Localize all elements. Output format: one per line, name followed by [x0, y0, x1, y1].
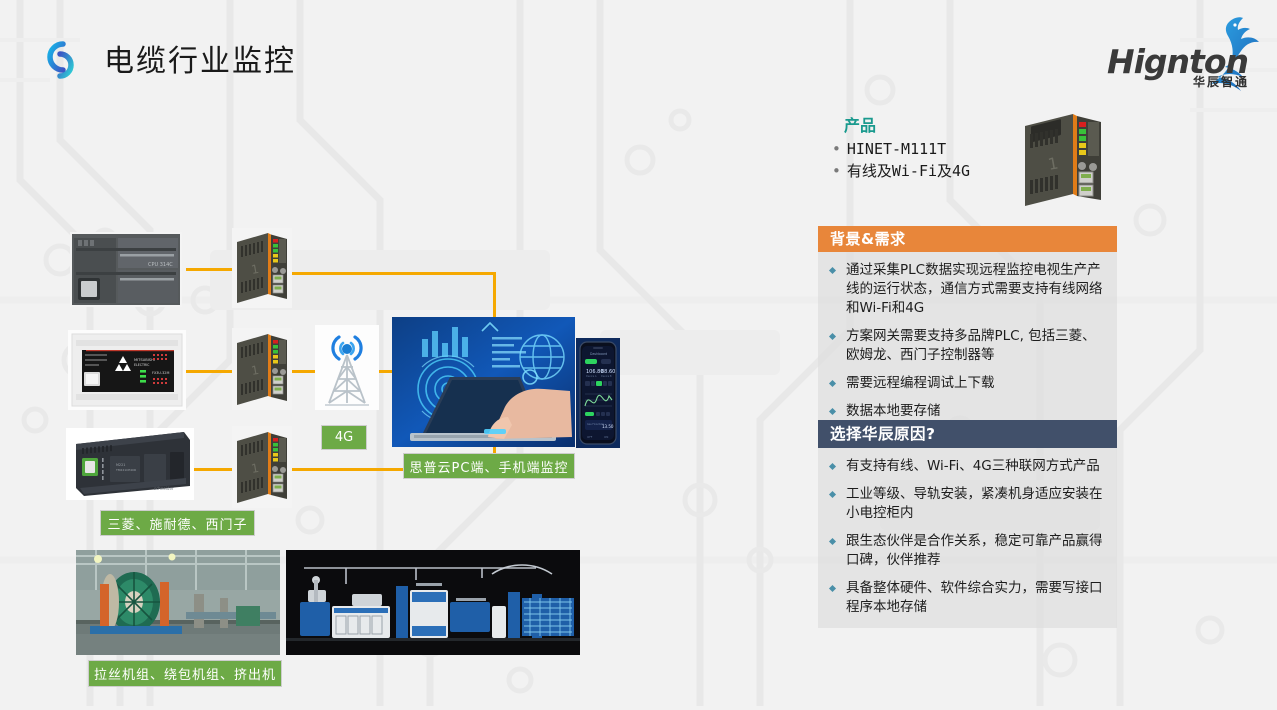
laptop-dashboard-photo: [392, 317, 575, 447]
svg-text:OFF: OFF: [587, 435, 593, 439]
interlocking-circles-icon: [33, 31, 93, 89]
plc-brands-label: 三菱、施耐德、西门子: [100, 510, 255, 536]
svg-text:ELECTRIC: ELECTRIC: [134, 363, 150, 367]
wire-plc1-gw1: [186, 268, 234, 271]
mitsubishi-plc-photo: MITSUBISHI ELECTRIC FX3U-32M: [68, 330, 186, 410]
list-item: 数据本地要存储: [826, 402, 1109, 421]
product-block: 产品 •HINET-M111T •有线及Wi-Fi及4G: [832, 112, 1032, 182]
hinet-gateway-3-photo: 1: [232, 426, 292, 508]
panel-background-title: 背景&需求: [818, 226, 1117, 252]
logo-chinese-name: 华辰智通: [1193, 73, 1249, 90]
company-logo: Hignton 华辰智通: [1107, 14, 1267, 98]
panel-background-body: 通过采集PLC数据实现远程监控电视生产产线的运行状态，通信方式需要支持有线网络和…: [818, 252, 1117, 432]
svg-text:CPU 314C: CPU 314C: [148, 262, 173, 268]
smartphone-dashboard-photo: Dashboard 106.80 88.60 Device A Device B: [576, 338, 620, 448]
list-item: 方案网关需要支持多品牌PLC, 包括三菱、欧姆龙、西门子控制器等: [826, 327, 1109, 365]
4g-tower-icon: [315, 325, 379, 410]
hinet-gateway-product-photo: 1: [1017, 108, 1107, 213]
product-item-0: •HINET-M111T: [832, 138, 1032, 160]
schneider-plc-photo: M221 TM221CE40R schneider: [66, 428, 194, 500]
page-header: 电缆行业监控 Hignton 华辰智通: [0, 0, 1277, 110]
panel-why-choose: 选择华辰原因? 有支持有线、Wi-Fi、4G三种联网方式产品 工业等级、导轨安装…: [818, 420, 1117, 628]
wire-gw1-right: [290, 272, 495, 275]
cloud-monitoring-label: 思普云PC端、手机端监控: [403, 453, 575, 479]
product-heading: 产品: [844, 112, 1032, 136]
list-item: 通过采集PLC数据实现远程监控电视生产产线的运行状态，通信方式需要支持有线网络和…: [826, 261, 1109, 318]
product-item-1: •有线及Wi-Fi及4G: [832, 160, 1032, 182]
siemens-plc-photo: CPU 314C: [70, 232, 182, 307]
svg-text:ON: ON: [604, 435, 608, 439]
extrusion-line-photo: [286, 550, 580, 655]
machines-label: 拉丝机组、绕包机组、挤出机: [88, 660, 282, 687]
svg-text:MITSUBISHI: MITSUBISHI: [134, 358, 155, 362]
svg-text:Dashboard: Dashboard: [590, 352, 607, 356]
background-bullet-list: 通过采集PLC数据实现远程监控电视生产产线的运行状态，通信方式需要支持有线网络和…: [826, 261, 1109, 421]
reason-bullet-list: 有支持有线、Wi-Fi、4G三种联网方式产品 工业等级、导轨安装，紧凑机身适应安…: [826, 457, 1109, 617]
hinet-gateway-2-photo: 1: [232, 328, 292, 410]
svg-text:TM221CE40R: TM221CE40R: [115, 468, 136, 472]
svg-text:M221: M221: [116, 463, 125, 467]
list-item: 需要远程编程调试上下载: [826, 374, 1109, 393]
bullet-dot: •: [832, 140, 841, 158]
svg-text:13.50: 13.50: [602, 424, 614, 429]
svg-text:Device B: Device B: [601, 375, 612, 378]
badge-4g: 4G: [321, 425, 367, 450]
svg-text:Device A: Device A: [586, 375, 597, 378]
list-item: 跟生态伙伴是合作关系，稳定可靠产品赢得口碑，伙伴推荐: [826, 532, 1109, 570]
hinet-gateway-1-photo: 1: [232, 228, 292, 308]
wire-gw2-tower: [290, 370, 316, 373]
panel-reason-title: 选择华辰原因?: [818, 420, 1117, 448]
bullet-dot: •: [832, 162, 841, 180]
list-item: 有支持有线、Wi-Fi、4G三种联网方式产品: [826, 457, 1109, 476]
network-topology-diagram: CPU 314C 1: [0, 210, 820, 710]
wire-plc2-gw2: [186, 370, 234, 373]
svg-text:FX3U-32M: FX3U-32M: [152, 371, 169, 375]
cable-drum-factory-photo: [76, 550, 280, 655]
panel-background-needs: 背景&需求 通过采集PLC数据实现远程监控电视生产产线的运行状态，通信方式需要支…: [818, 226, 1117, 432]
page-title: 电缆行业监控: [104, 36, 296, 80]
list-item: 具备整体硬件、软件综合实力，需要写接口程序本地存储: [826, 579, 1109, 617]
list-item: 工业等级、导轨安装，紧凑机身适应安装在小电控柜内: [826, 485, 1109, 523]
panel-reason-body: 有支持有线、Wi-Fi、4G三种联网方式产品 工业等级、导轨安装，紧凑机身适应安…: [818, 448, 1117, 628]
